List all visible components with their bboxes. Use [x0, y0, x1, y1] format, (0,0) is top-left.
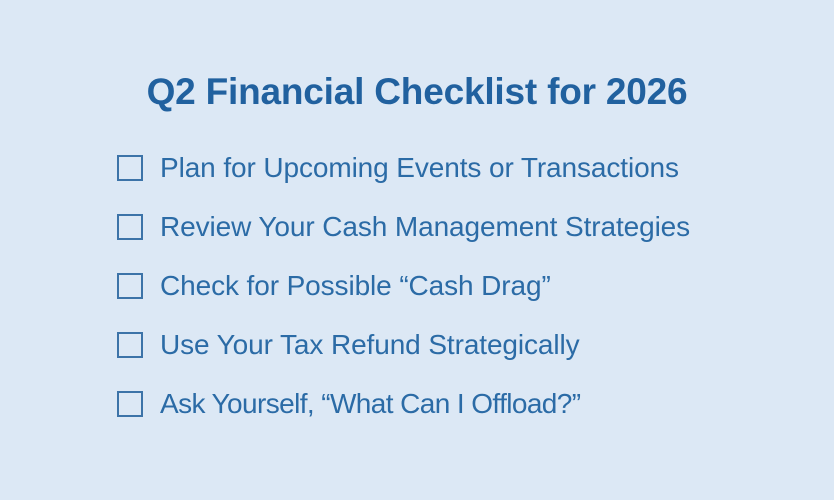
checkbox-icon[interactable]	[117, 273, 143, 299]
list-item-label: Ask Yourself, “What Can I Offload?”	[160, 388, 580, 420]
checklist: Plan for Upcoming Events or Transactions…	[117, 138, 817, 433]
list-item[interactable]: Use Your Tax Refund Strategically	[117, 315, 817, 374]
list-item[interactable]: Review Your Cash Management Strategies	[117, 197, 817, 256]
list-item-label: Use Your Tax Refund Strategically	[160, 329, 580, 361]
checkbox-icon[interactable]	[117, 332, 143, 358]
checkbox-icon[interactable]	[117, 391, 143, 417]
list-item-label: Plan for Upcoming Events or Transactions	[160, 152, 679, 184]
list-item-label: Check for Possible “Cash Drag”	[160, 270, 551, 302]
checkbox-icon[interactable]	[117, 214, 143, 240]
list-item[interactable]: Check for Possible “Cash Drag”	[117, 256, 817, 315]
list-item-label: Review Your Cash Management Strategies	[160, 211, 690, 243]
checkbox-icon[interactable]	[117, 155, 143, 181]
list-item[interactable]: Ask Yourself, “What Can I Offload?”	[117, 374, 817, 433]
checklist-poster: Q2 Financial Checklist for 2026 Plan for…	[0, 0, 834, 500]
page-title: Q2 Financial Checklist for 2026	[0, 69, 834, 115]
list-item[interactable]: Plan for Upcoming Events or Transactions	[117, 138, 817, 197]
